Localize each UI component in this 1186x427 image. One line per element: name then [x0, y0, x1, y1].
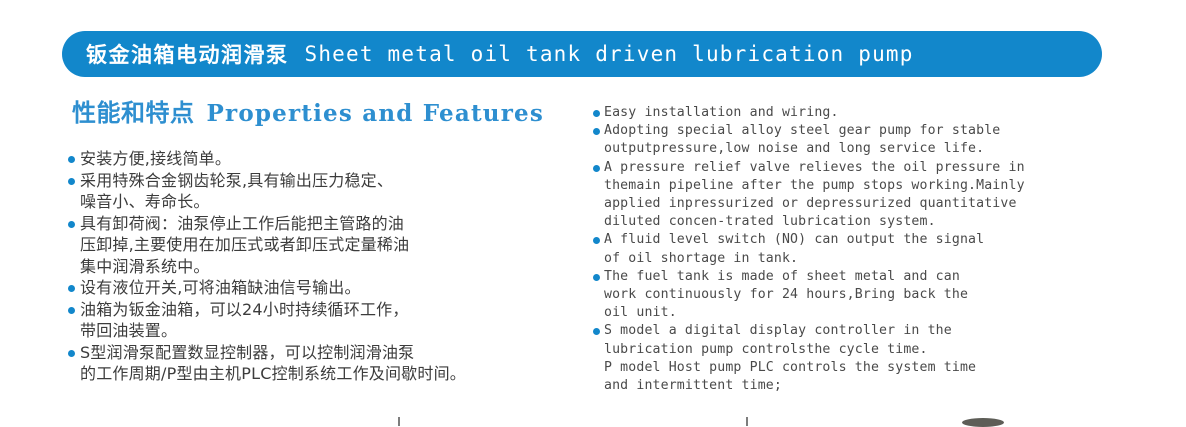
list-item-text: A fluid level switch (NO) can output the… [604, 231, 984, 267]
list-item-text: 设有液位开关,可将油箱缺油信号输出。 [80, 277, 361, 299]
list-item-text: 具有卸荷阀：油泵停止工作后能把主管路的油 压卸掉,主要使用在加压式或者卸压式定量… [80, 213, 409, 278]
list-item: A fluid level switch (NO) can output the… [593, 231, 1163, 267]
bullet-dot-icon [593, 274, 600, 281]
features-list-chinese: 安装方便,接线简单。 采用特殊合金钢齿轮泵,具有输出压力稳定、 噪音小、寿命长。… [68, 148, 578, 385]
list-item: S model a digital display controller in … [593, 322, 1163, 395]
list-item-text: 油箱为钣金油箱，可以24小时持续循环工作， 带回油装置。 [80, 299, 409, 342]
product-image-disc-top [962, 418, 1004, 427]
bullet-dot-icon [593, 165, 600, 172]
list-item: 油箱为钣金油箱，可以24小时持续循环工作， 带回油装置。 [68, 299, 578, 342]
list-item-text: 采用特殊合金钢齿轮泵,具有输出压力稳定、 噪音小、寿命长。 [80, 170, 393, 213]
list-item: 设有液位开关,可将油箱缺油信号输出。 [68, 277, 578, 299]
bullet-dot-icon [68, 350, 75, 357]
list-item-text: Easy installation and wiring. [604, 104, 839, 122]
bullet-dot-icon [68, 221, 75, 228]
bullet-dot-icon [593, 328, 600, 335]
list-item-text: 安装方便,接线简单。 [80, 148, 231, 170]
list-item: S型润滑泵配置数显控制器，可以控制润滑油泵 的工作周期/P型由主机PLC控制系统… [68, 342, 578, 385]
product-image-tick-right [746, 417, 748, 426]
list-item: 具有卸荷阀：油泵停止工作后能把主管路的油 压卸掉,主要使用在加压式或者卸压式定量… [68, 213, 578, 278]
banner-title-chinese: 钣金油箱电动润滑泵 [86, 39, 289, 69]
list-item-text: The fuel tank is made of sheet metal and… [604, 268, 968, 323]
bullet-dot-icon [593, 128, 600, 135]
list-item: Easy installation and wiring. [593, 104, 1163, 122]
section-heading-english: Properties and Features [207, 100, 545, 127]
list-item-text: Adopting special alloy steel gear pump f… [604, 122, 1000, 158]
list-item: A pressure relief valve relieves the oil… [593, 159, 1163, 232]
section-heading-chinese: 性能和特点 [72, 93, 195, 128]
bullet-dot-icon [68, 285, 75, 292]
list-item: 采用特殊合金钢齿轮泵,具有输出压力稳定、 噪音小、寿命长。 [68, 170, 578, 213]
bullet-dot-icon [68, 178, 75, 185]
bullet-dot-icon [593, 110, 600, 117]
list-item: Adopting special alloy steel gear pump f… [593, 122, 1163, 158]
list-item-text: A pressure relief valve relieves the oil… [604, 159, 1025, 232]
list-item: The fuel tank is made of sheet metal and… [593, 268, 1163, 323]
list-item-text: S model a digital display controller in … [604, 322, 976, 395]
page-banner: 钣金油箱电动润滑泵 Sheet metal oil tank driven lu… [62, 31, 1102, 77]
product-image-tick-left [398, 417, 400, 426]
features-list-english: Easy installation and wiring. Adopting s… [593, 104, 1163, 395]
section-heading: 性能和特点 Properties and Features [72, 93, 544, 128]
banner-title-english: Sheet metal oil tank driven lubrication … [305, 42, 914, 66]
bullet-dot-icon [68, 156, 75, 163]
list-item-text: S型润滑泵配置数显控制器，可以控制润滑油泵 的工作周期/P型由主机PLC控制系统… [80, 342, 466, 385]
bullet-dot-icon [593, 237, 600, 244]
list-item: 安装方便,接线简单。 [68, 148, 578, 170]
bullet-dot-icon [68, 307, 75, 314]
